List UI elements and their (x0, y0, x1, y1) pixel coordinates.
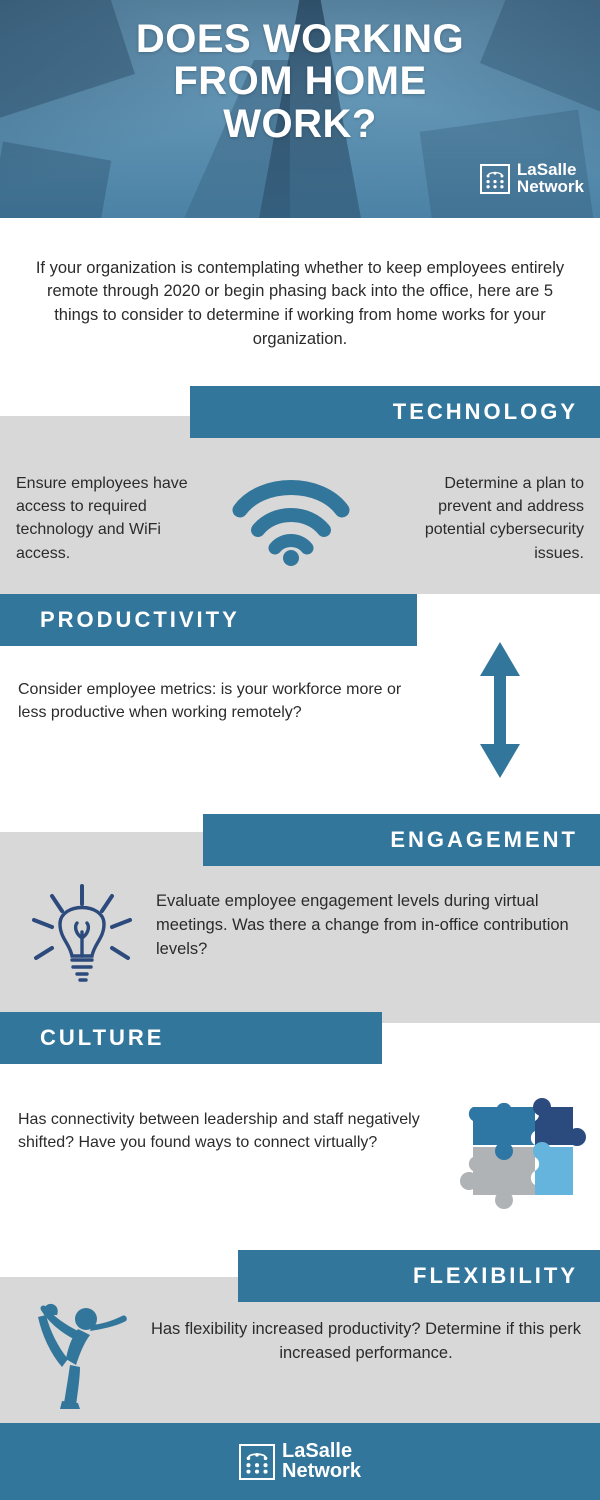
footer-bar: LaSalle Network (0, 1423, 600, 1500)
page-title: DOES WORKING FROM HOME WORK? (0, 18, 600, 145)
engagement-text: Evaluate employee engagement levels duri… (156, 890, 592, 962)
infographic-page: DOES WORKING FROM HOME WORK? (0, 0, 600, 1500)
logo-wordmark: LaSalle Network (282, 1442, 361, 1481)
building-shape (0, 142, 111, 218)
lasalle-network-logo-icon (239, 1444, 275, 1480)
technology-title: TECHNOLOGY (393, 399, 578, 425)
productivity-title: PRODUCTIVITY (40, 607, 240, 633)
culture-title: CULTURE (40, 1025, 164, 1051)
up-down-arrow-icon (478, 640, 522, 780)
logo-wordmark: LaSalle Network (517, 162, 584, 195)
flexibility-title-bar: FLEXIBILITY (238, 1250, 600, 1302)
logo-word-lasalle: LaSalle (282, 1442, 361, 1462)
puzzle-pieces-icon (457, 1085, 587, 1215)
header-banner: DOES WORKING FROM HOME WORK? (0, 0, 600, 218)
technology-text-right: Determine a plan to prevent and address … (400, 472, 584, 565)
intro-paragraph: If your organization is contemplating wh… (26, 257, 574, 353)
engagement-title-bar: ENGAGEMENT (203, 814, 600, 866)
logo-word-network: Network (517, 179, 584, 196)
technology-text-left: Ensure employees have access to required… (16, 472, 196, 565)
logo-word-network: Network (282, 1462, 361, 1482)
title-line-2: FROM HOME (0, 60, 600, 102)
flexibility-text: Has flexibility increased productivity? … (140, 1318, 592, 1366)
title-line-3: WORK? (0, 103, 600, 145)
lasalle-network-logo-icon (480, 164, 510, 194)
yoga-pose-icon (16, 1285, 144, 1411)
title-line-1: DOES WORKING (0, 18, 600, 60)
technology-title-bar: TECHNOLOGY (190, 386, 600, 438)
header-logo: LaSalle Network (480, 162, 584, 199)
culture-text: Has connectivity between leadership and … (18, 1108, 438, 1154)
flexibility-title: FLEXIBILITY (413, 1263, 578, 1289)
lightbulb-icon (14, 872, 150, 1002)
productivity-text: Consider employee metrics: is your workf… (18, 678, 428, 724)
wifi-icon (232, 468, 350, 568)
footer-logo: LaSalle Network (239, 1442, 361, 1481)
engagement-title: ENGAGEMENT (390, 827, 578, 853)
culture-title-bar: CULTURE (0, 1012, 382, 1064)
productivity-title-bar: PRODUCTIVITY (0, 594, 417, 646)
